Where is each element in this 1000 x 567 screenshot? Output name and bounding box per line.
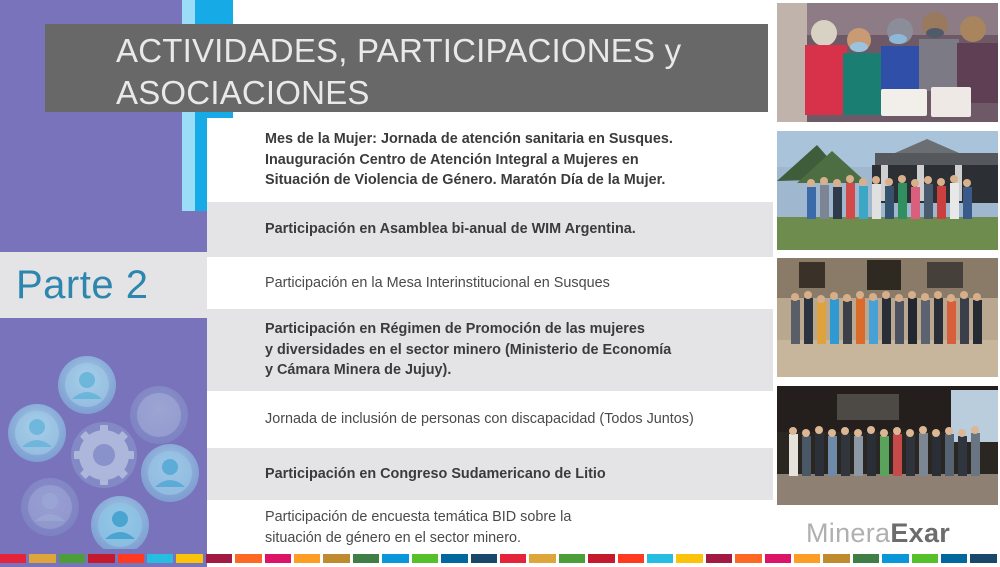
sdg-color-segment xyxy=(118,554,144,563)
sdg-color-segment xyxy=(176,554,202,563)
logo-primary-text: Minera xyxy=(806,518,890,549)
activity-list: Mes de la Mujer: Jornada de atención san… xyxy=(207,118,773,555)
activity-row: Participación en Asamblea bi-anual de WI… xyxy=(207,202,773,257)
sdg-color-segment xyxy=(88,554,114,563)
title-banner: ACTIVIDADES, PARTICIPACIONES y ASOCIACIO… xyxy=(45,24,768,112)
activity-row: Jornada de inclusión de personas con dis… xyxy=(207,391,773,448)
sdg-color-segment xyxy=(823,554,849,563)
sdg-color-segment xyxy=(970,554,996,563)
sdg-color-segment xyxy=(353,554,379,563)
sdg-color-bar xyxy=(0,549,1000,567)
photo-congreso-mujeres xyxy=(777,386,998,505)
sdg-color-segment xyxy=(206,554,232,563)
sdg-color-segment xyxy=(765,554,791,563)
sdg-color-segment xyxy=(382,554,408,563)
activity-row-text: Mes de la Mujer: Jornada de atención san… xyxy=(265,129,673,192)
people-gear-cluster-graphic xyxy=(2,345,207,550)
sdg-color-segment xyxy=(59,554,85,563)
activity-row: Participación en la Mesa Interinstitucio… xyxy=(207,257,773,309)
sdg-color-segment xyxy=(618,554,644,563)
sdg-color-segment xyxy=(294,554,320,563)
sdg-color-segment xyxy=(588,554,614,563)
sdg-color-segment xyxy=(235,554,261,563)
part-label: Parte 2 xyxy=(16,265,148,305)
sdg-color-segment xyxy=(441,554,467,563)
slide-canvas: Parte 2 ACTIVIDADES, PARTICIPACIONES y A… xyxy=(0,0,1000,567)
activity-row: Mes de la Mujer: Jornada de atención san… xyxy=(207,118,773,202)
activity-row-text: Participación en la Mesa Interinstitucio… xyxy=(265,273,610,294)
photo-grupo-mesa-interinstitucional xyxy=(777,258,998,377)
sdg-color-segment xyxy=(0,554,26,563)
sdg-color-segment xyxy=(529,554,555,563)
logo-minera-exar: Minera Exar xyxy=(806,518,950,549)
sdg-color-segment xyxy=(794,554,820,563)
sdg-color-segment xyxy=(676,554,702,563)
sdg-color-segment xyxy=(412,554,438,563)
sdg-color-segment xyxy=(706,554,732,563)
activity-row: Participación de encuesta temática BID s… xyxy=(207,500,773,555)
sdg-color-segment xyxy=(147,554,173,563)
sdg-color-segment xyxy=(941,554,967,563)
photo-strip xyxy=(777,3,998,508)
sdg-color-segment xyxy=(882,554,908,563)
activity-row-text: Participación de encuesta temática BID s… xyxy=(265,507,571,549)
sdg-color-segment xyxy=(265,554,291,563)
part-badge: Parte 2 xyxy=(0,252,207,318)
sdg-color-segment xyxy=(647,554,673,563)
photo-grupo-exterior-casa xyxy=(777,131,998,250)
activity-row-text: Jornada de inclusión de personas con dis… xyxy=(265,409,694,430)
activity-row-text: Participación en Congreso Sudamericano d… xyxy=(265,464,606,485)
activity-row: Participación en Régimen de Promoción de… xyxy=(207,309,773,391)
photo-jornada-atencion-sanitaria xyxy=(777,3,998,122)
sdg-color-segment xyxy=(735,554,761,563)
sdg-color-segment xyxy=(500,554,526,563)
activity-row: Participación en Congreso Sudamericano d… xyxy=(207,448,773,500)
sdg-color-segment xyxy=(29,554,55,563)
sdg-color-segment xyxy=(853,554,879,563)
sdg-color-segment xyxy=(912,554,938,563)
activity-row-text: Participación en Asamblea bi-anual de WI… xyxy=(265,219,636,240)
activity-row-text: Participación en Régimen de Promoción de… xyxy=(265,319,671,382)
sdg-color-segment xyxy=(471,554,497,563)
sdg-color-segment xyxy=(559,554,585,563)
logo-secondary-text: Exar xyxy=(890,518,950,549)
page-title: ACTIVIDADES, PARTICIPACIONES y ASOCIACIO… xyxy=(116,30,768,114)
sdg-color-segment xyxy=(323,554,349,563)
